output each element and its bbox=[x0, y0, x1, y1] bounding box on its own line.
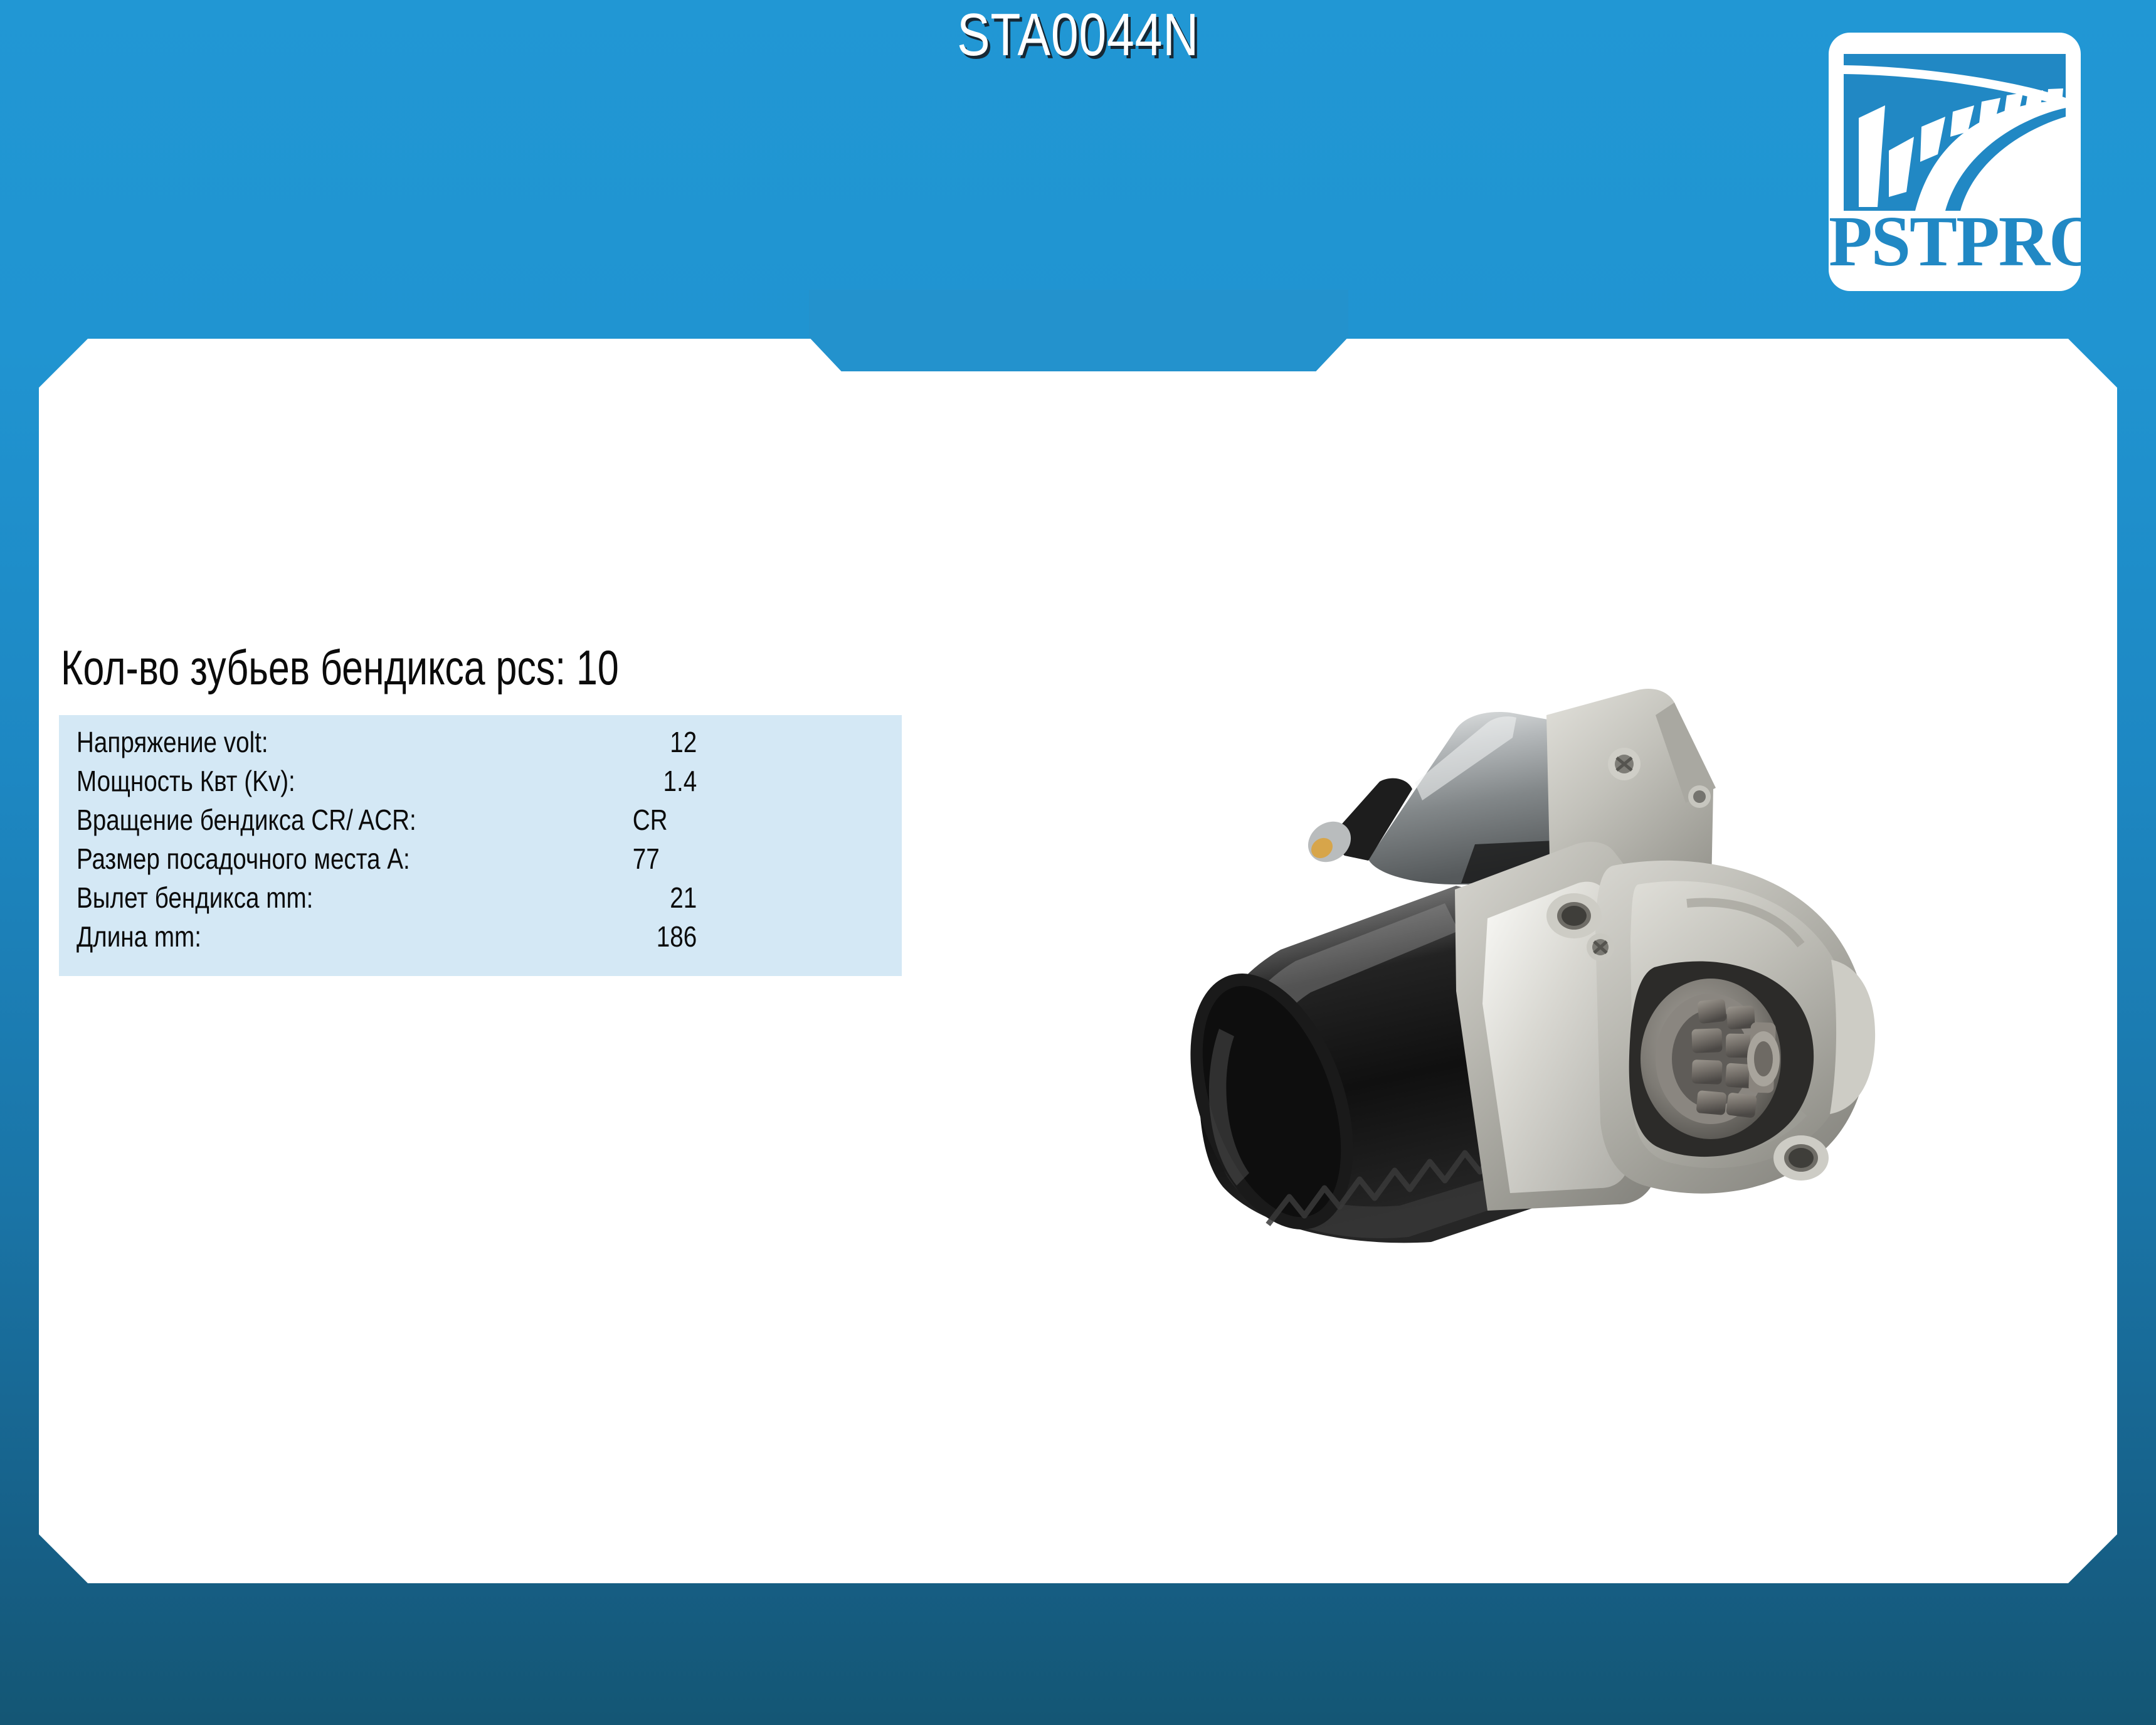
spec-label: Мощность Квт (Kv): bbox=[77, 767, 540, 795]
highway-road-icon bbox=[1840, 43, 2069, 211]
spec-label: Напряжение volt: bbox=[77, 728, 540, 756]
starter-motor-photo bbox=[1161, 590, 1901, 1255]
table-row: Размер посадочного места A: 77 bbox=[59, 844, 902, 883]
logo-wordmark: PSTPRO bbox=[1829, 206, 2081, 277]
spec-value: 77 bbox=[628, 844, 734, 873]
spec-value: CR bbox=[628, 805, 734, 834]
spec-label: Длина mm: bbox=[77, 922, 540, 951]
table-row: Напряжение volt: 12 bbox=[59, 728, 902, 767]
solenoid-assembly bbox=[1300, 712, 1572, 884]
specifications-table: Напряжение volt: 12 Мощность Квт (Kv): 1… bbox=[59, 715, 902, 976]
table-row: Вращение бендикса CR/ ACR: CR bbox=[59, 805, 902, 844]
mounting-boss-lower bbox=[1773, 1135, 1829, 1181]
spec-label: Размер посадочного места A: bbox=[77, 844, 540, 873]
spec-label: Вылет бендикса mm: bbox=[77, 883, 540, 912]
page-title: Кол-во зубьев бендикса pcs: 10 bbox=[61, 643, 619, 692]
spec-value: 186 bbox=[628, 922, 734, 951]
spec-value: 1.4 bbox=[628, 767, 734, 795]
part-number-banner bbox=[809, 290, 1348, 371]
spec-value: 12 bbox=[628, 728, 734, 756]
table-row: Вылет бендикса mm: 21 bbox=[59, 883, 902, 922]
spec-value: 21 bbox=[628, 883, 734, 912]
content-panel: Кол-во зубьев бендикса pcs: 10 Напряжени… bbox=[39, 339, 2117, 1583]
table-row: Длина mm: 186 bbox=[59, 922, 902, 961]
pstpro-logo: PSTPRO bbox=[1829, 33, 2081, 291]
spec-label: Вращение бендикса CR/ ACR: bbox=[77, 805, 540, 834]
part-number-title: STA0044N bbox=[194, 4, 1962, 67]
mounting-boss-upper bbox=[1546, 893, 1602, 938]
table-row: Мощность Квт (Kv): 1.4 bbox=[59, 767, 902, 805]
